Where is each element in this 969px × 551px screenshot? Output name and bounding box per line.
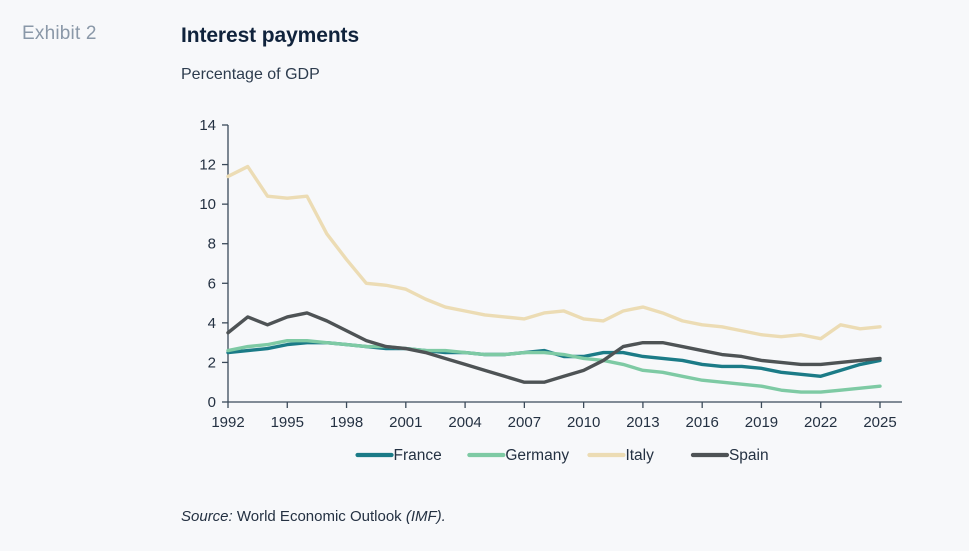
y-tick-label: 2 [208,354,216,371]
series-lines [228,167,880,393]
y-tick-label: 0 [208,394,216,411]
x-tick-label: 2013 [626,414,659,431]
y-tick-label: 8 [208,236,216,253]
x-tick-label: 2022 [804,414,837,431]
legend-label-italy[interactable]: Italy [625,447,654,464]
y-tick-label: 14 [199,117,216,134]
x-axis: 1992199519982001200420072010201320162019… [211,402,902,431]
x-tick-label: 2001 [389,414,422,431]
legend-label-france[interactable]: France [394,447,442,464]
x-tick-label: 1995 [271,414,304,431]
legend-label-germany[interactable]: Germany [505,447,569,464]
line-chart: 02468101214 1992199519982001200420072010… [0,105,969,475]
x-tick-label: 2004 [448,414,481,431]
source-text: World Economic Outlook [233,508,406,525]
x-tick-label: 1992 [211,414,244,431]
y-tick-label: 6 [208,275,216,292]
series-line-germany [228,341,880,392]
x-tick-label: 2007 [508,414,541,431]
series-line-italy [228,167,880,339]
x-tick-label: 1998 [330,414,363,431]
legend-label-spain[interactable]: Spain [729,447,769,464]
exhibit-figure: Exhibit 2 Interest payments Percentage o… [0,0,969,551]
chart-subtitle: Percentage of GDP [181,66,320,84]
series-line-france [228,343,880,377]
x-tick-label: 2016 [685,414,718,431]
y-tick-label: 4 [208,315,216,332]
y-axis: 02468101214 [199,117,228,411]
source-parenthetical: (IMF). [406,508,446,525]
page-title: Interest payments [181,24,359,48]
chart-legend: FranceGermanyItalySpain [358,447,769,464]
exhibit-label: Exhibit 2 [22,23,97,45]
chart-area: 02468101214 1992199519982001200420072010… [0,105,969,475]
x-tick-label: 2025 [863,414,896,431]
x-tick-label: 2010 [567,414,600,431]
source-note: Source: World Economic Outlook (IMF). [181,508,446,525]
y-tick-label: 10 [199,196,216,213]
source-lead: Source: [181,508,233,525]
x-tick-label: 2019 [745,414,778,431]
y-tick-label: 12 [199,157,216,174]
